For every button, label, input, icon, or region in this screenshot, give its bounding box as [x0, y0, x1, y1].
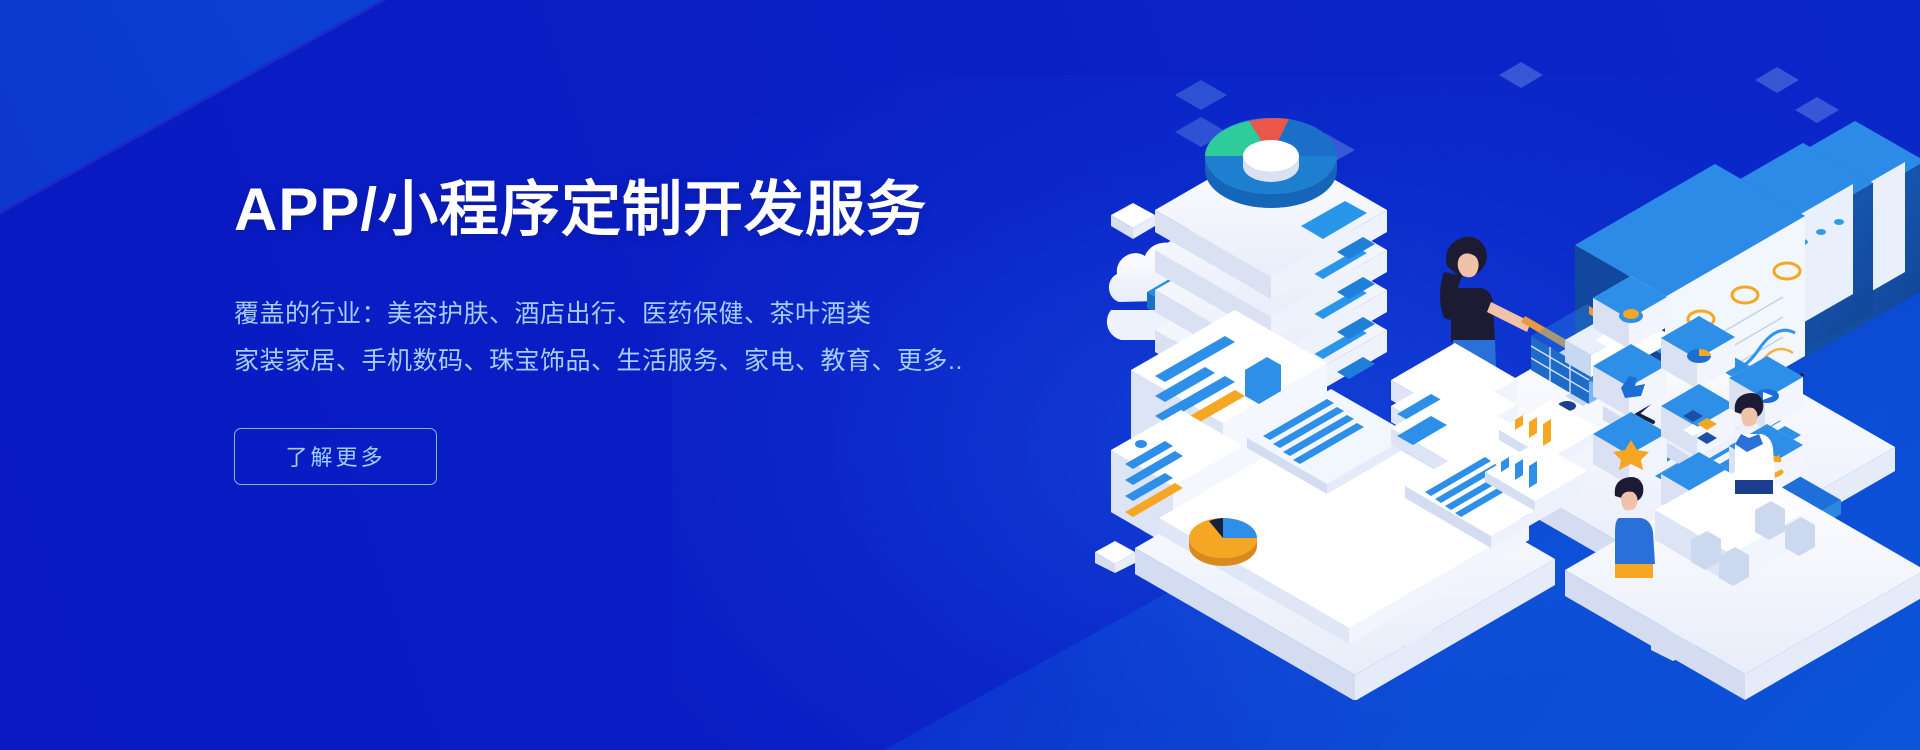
subtitle-block: 覆盖的行业：美容护肤、酒店出行、医药保健、茶叶酒类 家装家居、手机数码、珠宝饰品… — [234, 291, 1174, 386]
isometric-illustration — [1095, 40, 1920, 700]
pie-chart-icon — [1189, 518, 1257, 566]
page-title: APP/小程序定制开发服务 — [234, 178, 1174, 243]
donut-chart-icon — [1205, 118, 1337, 208]
subtitle-line-1: 覆盖的行业：美容护肤、酒店出行、医药保健、茶叶酒类 — [234, 291, 1174, 339]
floating-cube-2 — [1095, 541, 1135, 573]
learn-more-button[interactable]: 了解更多 — [234, 428, 437, 485]
hero-banner: APP/小程序定制开发服务 覆盖的行业：美容护肤、酒店出行、医药保健、茶叶酒类 … — [0, 0, 1920, 750]
floating-cube-1 — [1111, 203, 1155, 239]
subtitle-line-2: 家装家居、手机数码、珠宝饰品、生活服务、家电、教育、更多.. — [234, 338, 1174, 386]
hero-copy: APP/小程序定制开发服务 覆盖的行业：美容护肤、酒店出行、医药保健、茶叶酒类 … — [234, 178, 1174, 485]
